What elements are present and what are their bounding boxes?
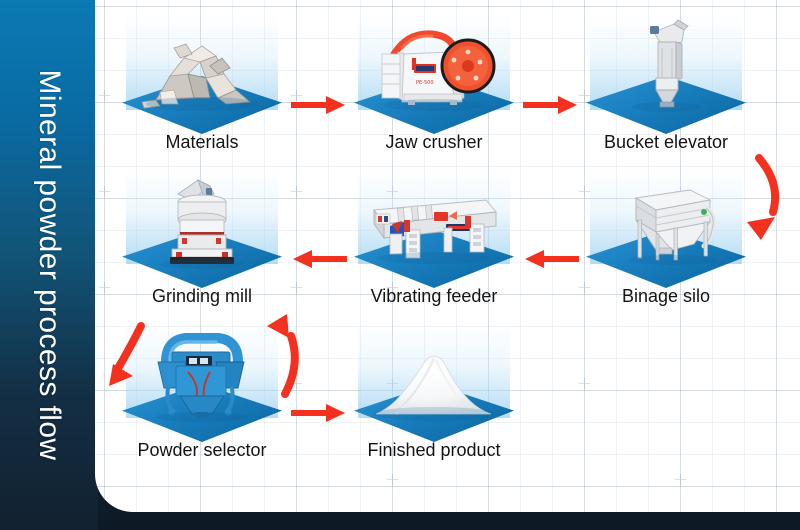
- grinding-mill-icon: [114, 168, 290, 272]
- flow-node-grinding-mill[interactable]: Grinding mill: [114, 168, 290, 318]
- arrow-powder-selector-to-finished-product: [291, 404, 345, 422]
- arrow-vibrating-feeder-to-grinding-mill: [293, 250, 347, 268]
- arrow-materials-to-jaw-crusher: [291, 96, 345, 114]
- flow-node-bucket-elevator[interactable]: Bucket elevator: [578, 14, 754, 164]
- node-label: Vibrating feeder: [332, 286, 536, 307]
- flow-node-vibrating-feeder[interactable]: Vibrating feeder: [346, 168, 522, 318]
- node-stage: [578, 168, 754, 290]
- flow-node-finished-product[interactable]: Finished product: [346, 322, 522, 472]
- grid-plus-mark: [675, 474, 686, 485]
- grid-plus-mark: [579, 378, 590, 389]
- bucket-elevator-icon: [578, 14, 754, 118]
- grid-plus-mark: [99, 186, 110, 197]
- vibrating-feeder-icon: [346, 168, 522, 272]
- node-stage: [114, 168, 290, 290]
- svg-text:PE-500: PE-500: [416, 80, 434, 86]
- flow-node-jaw-crusher[interactable]: PE-500 Jaw: [346, 14, 522, 164]
- arrow-jaw-crusher-to-bucket-elevator: [523, 96, 577, 114]
- grid-plus-mark: [99, 90, 110, 101]
- arrow-bucket-elevator-to-binage-silo: [733, 152, 797, 248]
- node-stage: [114, 14, 290, 136]
- process-flow-infographic: Mineral powder process flow: [0, 0, 800, 530]
- node-label: Materials: [100, 132, 304, 153]
- grid-plus-mark: [291, 186, 302, 197]
- arrow-binage-silo-to-vibrating-feeder: [525, 250, 579, 268]
- node-stage: PE-500: [346, 14, 522, 136]
- node-stage: [346, 168, 522, 290]
- grid-plus-mark: [387, 474, 398, 485]
- node-label: Powder selector: [100, 440, 304, 461]
- rock-pile-icon: [114, 14, 290, 118]
- powder-pile-icon: [346, 322, 522, 426]
- binage-silo-icon: [578, 168, 754, 272]
- diagram-panel: Materials: [95, 0, 800, 512]
- flow-node-binage-silo[interactable]: Binage silo: [578, 168, 754, 318]
- node-label: Jaw crusher: [332, 132, 536, 153]
- node-stage: [578, 14, 754, 136]
- banner-title: Mineral powder process flow: [0, 0, 98, 530]
- node-stage: [346, 322, 522, 444]
- node-label: Finished product: [332, 440, 536, 461]
- flow-node-materials[interactable]: Materials: [114, 14, 290, 164]
- node-label: Binage silo: [564, 286, 768, 307]
- jaw-crusher-icon: PE-500: [346, 14, 522, 118]
- title-banner: Mineral powder process flow: [0, 0, 98, 530]
- arrow-grinding-mill-to-powder-selector: [99, 320, 165, 400]
- node-label: Bucket elevator: [564, 132, 768, 153]
- arrow-finished-product-to-grinding-mill: [253, 308, 323, 400]
- node-label: Grinding mill: [100, 286, 304, 307]
